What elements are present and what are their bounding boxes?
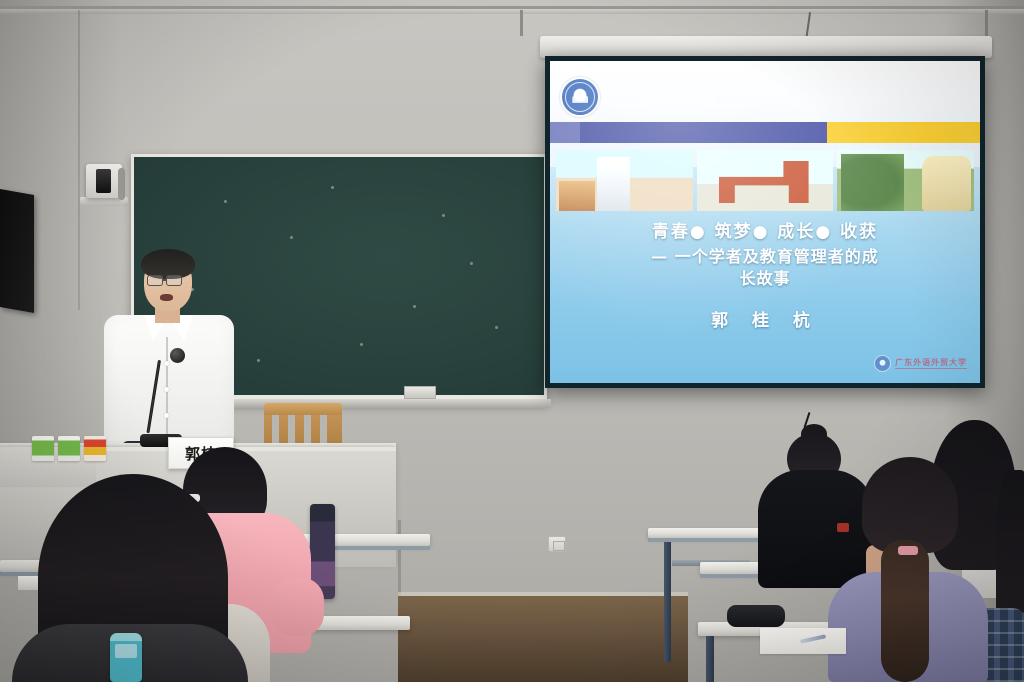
- camera-lens-icon: [96, 169, 111, 193]
- lecturer-mouth: [160, 294, 173, 301]
- teal-water-bottle[interactable]: [110, 633, 142, 682]
- projection-screen[interactable]: 广东外语外贸大学 青春● 筑梦● 成长● 收获 — 一个学者及教育管理者的成 长…: [545, 56, 985, 388]
- shirt-placket: [166, 337, 168, 447]
- red-yellow-snack-box[interactable]: [84, 436, 106, 461]
- eyeglasses-right-lens-icon: [166, 275, 182, 286]
- slide-subtitle: — 一个学者及教育管理者的成 长故事: [563, 246, 967, 289]
- campus-stone-monument-photo: 广东外语外贸大学: [837, 150, 973, 211]
- black-pencil-case[interactable]: [727, 605, 785, 627]
- slide-bar-blue: [580, 122, 829, 143]
- slide-bar-yellow: [827, 122, 980, 143]
- projection-screen-housing[interactable]: [540, 36, 992, 58]
- wall-display-panel: [0, 189, 34, 313]
- student-black-hoodie: [758, 470, 874, 588]
- monument-inscription: 广东外语外贸大学: [929, 163, 967, 176]
- wall-power-outlet[interactable]: [548, 536, 566, 552]
- chalkboard-eraser: [404, 386, 436, 399]
- green-drink-carton[interactable]: [58, 436, 80, 461]
- footer-emblem-icon: [874, 355, 891, 372]
- campus-photo-strip: 广东外语外贸大学: [556, 150, 973, 211]
- slide-subtitle-line1: — 一个学者及教育管理者的成: [563, 246, 967, 268]
- green-drink-carton[interactable]: [32, 436, 54, 461]
- student-desk-leg: [664, 542, 671, 662]
- slide-footer-logo: 广东外语外贸大学: [874, 355, 967, 372]
- emblem-ring: [565, 82, 595, 112]
- student-hair: [862, 457, 958, 553]
- student-arm: [272, 578, 324, 636]
- campus-red-brick-gate-photo: [697, 150, 833, 211]
- slide-subtitle-line2: 长故事: [563, 268, 967, 290]
- student-desk-leg: [706, 636, 714, 682]
- hoodie-logo: [837, 523, 849, 532]
- slide-speaker-name: 郭 桂 杭: [550, 306, 980, 331]
- presentation-slide: 广东外语外贸大学 青春● 筑梦● 成长● 收获 — 一个学者及教育管理者的成 长…: [550, 61, 980, 383]
- lecturer: [104, 253, 234, 463]
- footer-org-name: 广东外语外贸大学: [895, 357, 967, 369]
- eyeglasses-bridge: [163, 279, 167, 281]
- wall-seam: [78, 10, 80, 310]
- student-ponytail: [881, 540, 929, 682]
- gooseneck-microphone[interactable]: [170, 348, 185, 363]
- hair-tie: [898, 546, 918, 555]
- camera-arm: [118, 168, 125, 200]
- student-desk: [648, 528, 766, 538]
- ceiling-cable-conduit: [0, 9, 1024, 14]
- chair-top-rail: [264, 403, 342, 415]
- slide-title: 青春● 筑梦● 成长● 收获: [550, 217, 980, 242]
- screen-surface: 广东外语外贸大学 青春● 筑梦● 成长● 收获 — 一个学者及教育管理者的成 长…: [550, 61, 980, 383]
- classroom-photo-scene: 广东外语外贸大学 青春● 筑梦● 成长● 收获 — 一个学者及教育管理者的成 长…: [0, 0, 1024, 682]
- screen-hanger-left: [520, 10, 523, 36]
- floor-baseboard: [398, 596, 688, 682]
- eyeglasses-left-lens-icon: [147, 275, 163, 286]
- campus-tower-building-photo: [556, 150, 692, 211]
